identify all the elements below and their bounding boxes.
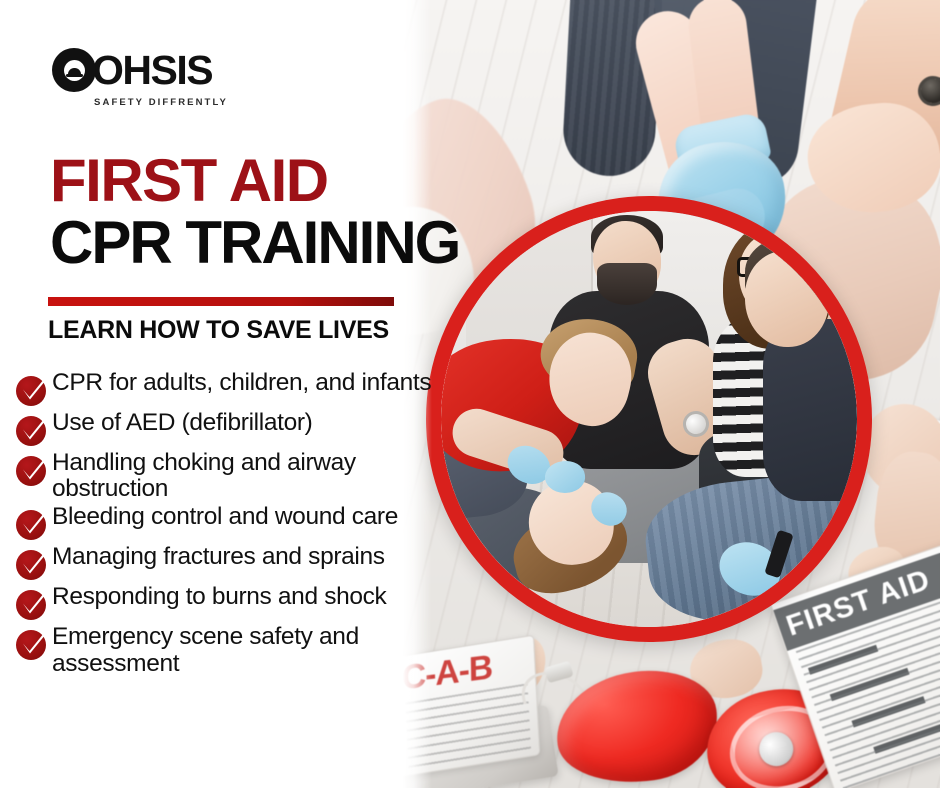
- list-item-label: Managing fractures and sprains: [50, 544, 385, 570]
- poster-content: OHSIS SAFETY DIFFRENTLY FIRST AID CPR TR…: [0, 0, 940, 788]
- red-circle-check-icon: [14, 452, 50, 488]
- headline-line-2: CPR TRAINING: [50, 212, 570, 273]
- list-item-label: Handling choking and airway obstruction: [50, 450, 462, 502]
- poster-canvas: C-A-B FIRST AID: [0, 0, 940, 788]
- list-item: Emergency scene safety and assessment: [14, 624, 534, 676]
- list-item-label: Use of AED (defibrillator): [50, 410, 313, 436]
- list-item-label: Responding to burns and shock: [50, 584, 386, 610]
- list-item: Managing fractures and sprains: [14, 544, 534, 582]
- brand-logo[interactable]: OHSIS SAFETY DIFFRENTLY: [52, 48, 252, 108]
- brand-name: OHSIS: [92, 50, 212, 91]
- red-circle-check-icon: [14, 412, 50, 448]
- list-item: Use of AED (defibrillator): [14, 410, 534, 448]
- headline-line-1: FIRST AID: [50, 152, 570, 210]
- feature-list: CPR for adults, children, and infants Us…: [14, 370, 534, 679]
- logo-mark: OHSIS: [52, 48, 252, 92]
- red-circle-check-icon: [14, 506, 50, 542]
- red-circle-check-icon: [14, 586, 50, 622]
- list-item-label: Emergency scene safety and assessment: [50, 624, 462, 676]
- helmet-glyph: [64, 60, 85, 81]
- brand-tagline: SAFETY DIFFRENTLY: [52, 97, 252, 108]
- page-title: FIRST AID CPR TRAINING: [50, 152, 570, 273]
- list-item-label: Bleeding control and wound care: [50, 504, 398, 530]
- list-item: Responding to burns and shock: [14, 584, 534, 622]
- divider: [48, 297, 394, 306]
- list-item: Bleeding control and wound care: [14, 504, 534, 542]
- list-item: CPR for adults, children, and infants: [14, 370, 534, 408]
- list-item: Handling choking and airway obstruction: [14, 450, 534, 502]
- red-circle-check-icon: [14, 546, 50, 582]
- red-circle-check-icon: [14, 372, 50, 408]
- list-item-label: CPR for adults, children, and infants: [50, 370, 431, 396]
- red-circle-check-icon: [14, 626, 50, 662]
- helmet-in-circle-icon: [52, 48, 96, 92]
- subheadline: LEARN HOW TO SAVE LIVES: [48, 316, 389, 345]
